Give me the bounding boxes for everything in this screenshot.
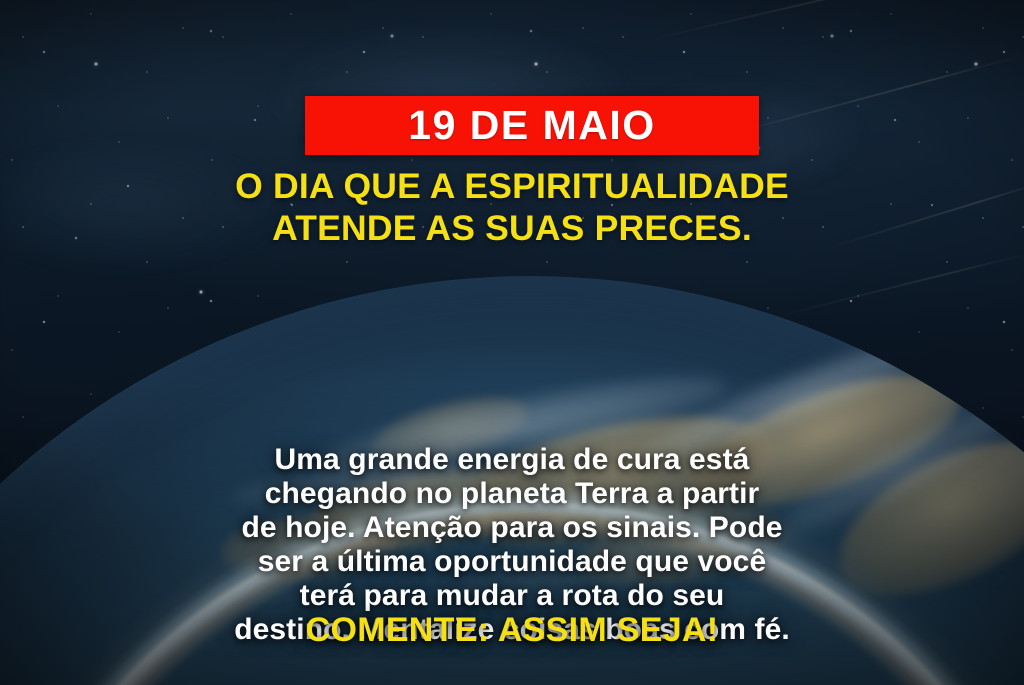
- body-line-5: terá para mudar a rota do seu: [30, 579, 994, 613]
- date-banner: 19 DE MAIO: [305, 96, 759, 155]
- body-line-1: Uma grande energia de cura está: [30, 443, 994, 477]
- body-line-4: ser a última oportunidade que você: [30, 545, 994, 579]
- date-banner-label: 19 DE MAIO: [408, 105, 655, 146]
- body-line-3: de hoje. Atenção para os sinais. Pode: [30, 511, 994, 545]
- headline-line-1: O DIA QUE A ESPIRITUALIDADE: [44, 166, 980, 208]
- cta-label: COMENTE: ASSIM SEJA!: [306, 611, 719, 649]
- call-to-action: COMENTE: ASSIM SEJA!: [0, 612, 1024, 649]
- poster-canvas: 19 DE MAIO O DIA QUE A ESPIRITUALIDADE A…: [0, 0, 1024, 685]
- headline: O DIA QUE A ESPIRITUALIDADE ATENDE AS SU…: [0, 166, 1024, 250]
- body-line-2: chegando no planeta Terra a partir: [30, 477, 994, 511]
- headline-line-2: ATENDE AS SUAS PRECES.: [44, 208, 980, 250]
- poster-content: 19 DE MAIO O DIA QUE A ESPIRITUALIDADE A…: [0, 0, 1024, 685]
